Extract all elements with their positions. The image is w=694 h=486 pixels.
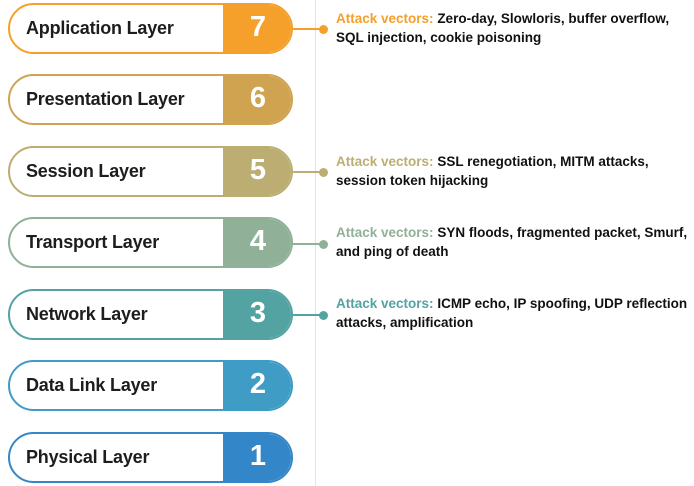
layer-label: Data Link Layer	[10, 375, 157, 396]
layer-bar-transport[interactable]: Transport Layer 4	[8, 217, 293, 268]
layer-bar-physical[interactable]: Physical Layer 1	[8, 432, 293, 483]
layer-label: Physical Layer	[10, 447, 149, 468]
annotation-prefix: Attack vectors:	[336, 11, 434, 26]
layer-bar-application[interactable]: Application Layer 7	[8, 3, 293, 54]
layer-number: 7	[250, 13, 266, 44]
connector-dot-network	[319, 311, 328, 320]
layer-number-block: 3	[223, 289, 293, 340]
layer-number: 1	[250, 442, 266, 473]
annotation-prefix: Attack vectors:	[336, 296, 434, 311]
layer-number: 6	[250, 84, 266, 115]
layer-label: Session Layer	[10, 161, 145, 182]
layer-label: Presentation Layer	[10, 89, 184, 110]
layer-label: Network Layer	[10, 304, 147, 325]
connector-dot-transport	[319, 240, 328, 249]
layer-number: 5	[250, 156, 266, 187]
annotation-application: Attack vectors: Zero-day, Slowloris, buf…	[336, 9, 688, 47]
annotation-prefix: Attack vectors:	[336, 154, 434, 169]
layer-number-block: 5	[223, 146, 293, 197]
annotation-network: Attack vectors: ICMP echo, IP spoofing, …	[336, 294, 688, 332]
layer-bar-network[interactable]: Network Layer 3	[8, 289, 293, 340]
layer-label: Transport Layer	[10, 232, 159, 253]
connector-dot-application	[319, 25, 328, 34]
layer-number: 3	[250, 299, 266, 330]
layer-bar-session[interactable]: Session Layer 5	[8, 146, 293, 197]
osi-model-diagram: Application Layer 7 Presentation Layer 6…	[0, 0, 694, 486]
layer-number: 4	[250, 227, 266, 258]
layer-number-block: 4	[223, 217, 293, 268]
layer-number-block: 6	[223, 74, 293, 125]
layer-number: 2	[250, 370, 266, 401]
annotation-transport: Attack vectors: SYN floods, fragmented p…	[336, 223, 688, 261]
layer-number-block: 2	[223, 360, 293, 411]
annotation-session: Attack vectors: SSL renegotiation, MITM …	[336, 152, 688, 190]
layer-bar-presentation[interactable]: Presentation Layer 6	[8, 74, 293, 125]
layer-number-block: 1	[223, 432, 293, 483]
layer-bar-data-link[interactable]: Data Link Layer 2	[8, 360, 293, 411]
layer-label: Application Layer	[10, 18, 174, 39]
layer-number-block: 7	[223, 3, 293, 54]
connector-dot-session	[319, 168, 328, 177]
annotation-prefix: Attack vectors:	[336, 225, 434, 240]
